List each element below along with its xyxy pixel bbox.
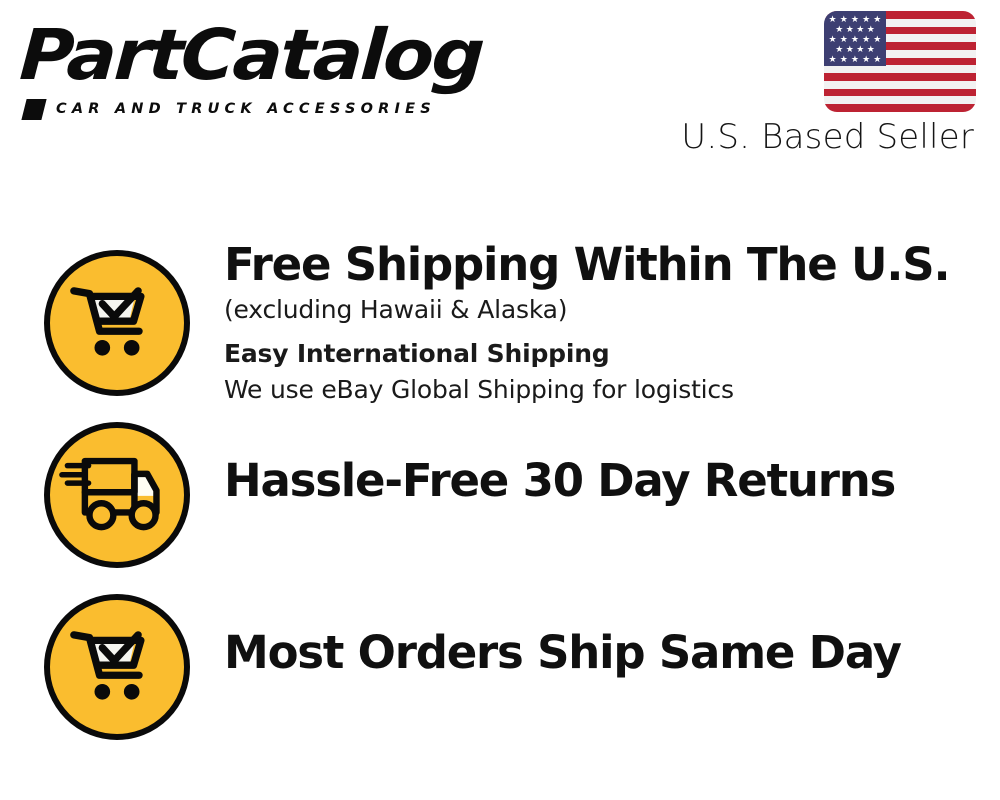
flag-stripe bbox=[824, 81, 976, 89]
brand-tagline: CAR AND TRUCK ACCESSORIES bbox=[56, 101, 436, 117]
star-icon: ★ bbox=[856, 46, 864, 55]
star-icon: ★ bbox=[867, 26, 875, 35]
feature-subline: Easy International Shipping bbox=[224, 336, 1000, 372]
feature-headline: Free Shipping Within The U.S. bbox=[224, 238, 1000, 292]
flag-star-row: ★ ★ ★ ★ bbox=[827, 25, 883, 35]
brand-logo[interactable]: PartCatalog CAR AND TRUCK ACCESSORIES bbox=[22, 18, 492, 118]
feature-row: Free Shipping Within The U.S. (excluding… bbox=[0, 232, 1000, 404]
star-icon: ★ bbox=[829, 16, 837, 25]
flag-star-row: ★ ★ ★ ★ bbox=[827, 45, 883, 55]
cart-check-art bbox=[50, 256, 184, 390]
flag-stripe bbox=[824, 104, 976, 112]
flag-stripe bbox=[824, 73, 976, 81]
star-icon: ★ bbox=[851, 16, 859, 25]
brand-wordmark: PartCatalog bbox=[18, 18, 520, 92]
star-icon: ★ bbox=[873, 56, 881, 65]
flag-stripe bbox=[824, 89, 976, 97]
star-icon: ★ bbox=[846, 46, 854, 55]
feature-text-block: Free Shipping Within The U.S. (excluding… bbox=[224, 232, 1000, 408]
us-flag-icon: ★ ★ ★ ★ ★ ★ ★ ★ ★ ★ ★ ★ ★ ★ bbox=[824, 11, 976, 112]
flag-star-row: ★ ★ ★ ★ ★ bbox=[827, 35, 883, 45]
feature-headline: Most Orders Ship Same Day bbox=[224, 626, 1000, 680]
feature-text-block: Most Orders Ship Same Day bbox=[224, 576, 1000, 680]
us-based-seller-label: U.S. Based Seller bbox=[681, 117, 974, 157]
star-icon: ★ bbox=[840, 36, 848, 45]
cart-check-art bbox=[50, 600, 184, 734]
star-icon: ★ bbox=[835, 26, 843, 35]
brand-tagline-row: CAR AND TRUCK ACCESSORIES bbox=[24, 98, 436, 120]
star-icon: ★ bbox=[862, 56, 870, 65]
feature-subline: (excluding Hawaii & Alaska) bbox=[224, 292, 1000, 328]
feature-row: Hassle-Free 30 Day Returns bbox=[0, 404, 1000, 576]
delivery-truck-icon bbox=[44, 422, 190, 568]
feature-row: Most Orders Ship Same Day bbox=[0, 576, 1000, 748]
star-icon: ★ bbox=[835, 46, 843, 55]
star-icon: ★ bbox=[829, 56, 837, 65]
flag-star-row: ★ ★ ★ ★ ★ bbox=[827, 15, 883, 25]
us-based-seller-badge: ★ ★ ★ ★ ★ ★ ★ ★ ★ ★ ★ ★ ★ ★ bbox=[688, 11, 988, 161]
star-icon: ★ bbox=[840, 16, 848, 25]
feature-list: Free Shipping Within The U.S. (excluding… bbox=[0, 232, 1000, 748]
shopping-cart-check-icon bbox=[44, 594, 190, 740]
star-icon: ★ bbox=[873, 16, 881, 25]
star-icon: ★ bbox=[862, 36, 870, 45]
star-icon: ★ bbox=[862, 16, 870, 25]
star-icon: ★ bbox=[856, 26, 864, 35]
page-header: PartCatalog CAR AND TRUCK ACCESSORIES bbox=[0, 0, 1000, 175]
star-icon: ★ bbox=[851, 56, 859, 65]
flag-star-row: ★ ★ ★ ★ ★ bbox=[827, 55, 883, 65]
feature-headline: Hassle-Free 30 Day Returns bbox=[224, 454, 1000, 508]
delivery-truck-art bbox=[50, 428, 184, 562]
feature-text-block: Hassle-Free 30 Day Returns bbox=[224, 404, 1000, 508]
star-icon: ★ bbox=[851, 36, 859, 45]
star-icon: ★ bbox=[867, 46, 875, 55]
flag-stripe bbox=[824, 65, 976, 73]
slash-mark-icon bbox=[21, 99, 46, 120]
star-icon: ★ bbox=[846, 26, 854, 35]
feature-subline: We use eBay Global Shipping for logistic… bbox=[224, 372, 1000, 408]
shopping-cart-check-icon bbox=[44, 250, 190, 396]
flag-canton: ★ ★ ★ ★ ★ ★ ★ ★ ★ ★ ★ ★ ★ ★ bbox=[824, 11, 886, 66]
star-icon: ★ bbox=[873, 36, 881, 45]
star-icon: ★ bbox=[829, 36, 837, 45]
star-icon: ★ bbox=[840, 56, 848, 65]
flag-stripe bbox=[824, 96, 976, 104]
